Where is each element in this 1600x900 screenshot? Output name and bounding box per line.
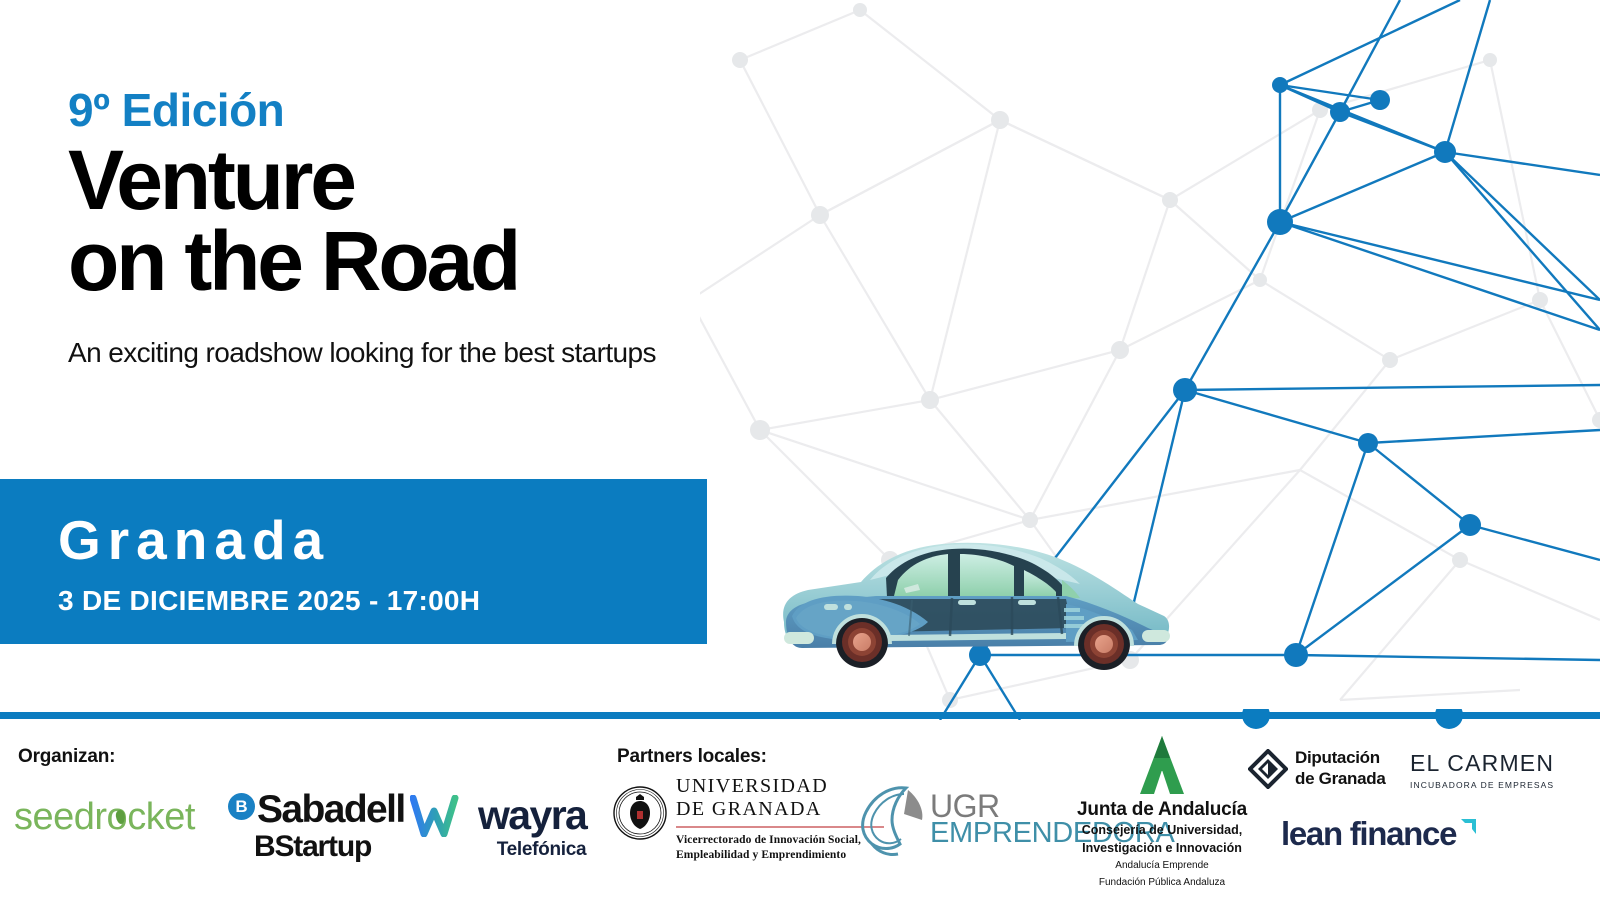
- organizan-label: Organizan:: [18, 746, 115, 768]
- event-date: 3 DE DICIEMBRE 2025 - 17:00H: [58, 585, 707, 617]
- carmen-tagline: INCUBADORA DE EMPRESAS: [1410, 780, 1554, 790]
- telefonica-wordmark: Telefónica: [410, 839, 586, 861]
- seedrocket-wordmark: seedrocket: [14, 796, 195, 839]
- logo-lean-finance[interactable]: lean finance: [1281, 815, 1478, 853]
- lean-finance-corner-icon: [1459, 817, 1478, 836]
- logo-diputacion-de-granada[interactable]: Diputación de Granada: [1248, 748, 1386, 789]
- diputacion-text: Diputación de Granada: [1295, 748, 1386, 789]
- junta-line-2b: Investigación e Innovación: [1057, 841, 1267, 857]
- junta-line-3b: Fundación Pública Andaluza: [1057, 877, 1267, 890]
- footer-logos: Organizan: Partners locales: seedrocket …: [0, 720, 1600, 900]
- title-line-2: on the Road: [68, 221, 708, 302]
- page-title: Venture on the Road: [68, 140, 708, 301]
- lean-finance-wordmark: lean finance: [1281, 815, 1456, 853]
- diputacion-line-1: Diputación: [1295, 748, 1386, 769]
- logo-wayra[interactable]: wayra Telefónica: [410, 792, 586, 861]
- event-city: Granada: [58, 513, 707, 568]
- logo-el-carmen[interactable]: EL CARMEN INCUBADORA DE EMPRESAS: [1410, 750, 1554, 790]
- edition-label: 9º Edición: [68, 86, 708, 134]
- logo-seedrocket[interactable]: seedrocket: [14, 796, 195, 839]
- hero-text-block: 9º Edición Venture on the Road An exciti…: [68, 86, 708, 370]
- sabadell-b-icon: B: [228, 793, 255, 820]
- bstartup-wordmark: BStartup: [254, 830, 405, 864]
- junta-line-2a: Consejería de Universidad,: [1057, 823, 1267, 839]
- junta-line-1: Junta de Andalucía: [1057, 799, 1267, 821]
- event-banner: Granada 3 DE DICIEMBRE 2025 - 17:00H: [0, 479, 707, 644]
- wayra-w-icon: [410, 795, 472, 837]
- sabadell-wordmark: Sabadell: [257, 788, 405, 832]
- diputacion-line-2: de Granada: [1295, 769, 1386, 790]
- event-poster: 9º Edición Venture on the Road An exciti…: [0, 0, 1600, 900]
- subtitle: An exciting roadshow looking for the bes…: [68, 336, 668, 370]
- logo-universidad-de-granada[interactable]: UNIVERSIDAD DE GRANADA Vicerrectorado de…: [612, 775, 884, 863]
- carmen-wordmark: EL CARMEN: [1410, 750, 1554, 777]
- logo-junta-de-andalucia[interactable]: Junta de Andalucía Consejería de Univers…: [1057, 734, 1267, 889]
- junta-a-icon: [1124, 734, 1200, 796]
- wayra-wordmark: wayra: [478, 792, 586, 839]
- logo-sabadell-bstartup[interactable]: B Sabadell BStartup: [228, 788, 405, 864]
- junta-line-3a: Andalucía Emprende: [1057, 860, 1267, 873]
- diputacion-diamond-icon: [1248, 749, 1288, 789]
- vintage-car-icon: [766, 504, 1186, 684]
- partners-label: Partners locales:: [617, 746, 767, 768]
- ugr-crest-icon: [612, 785, 668, 841]
